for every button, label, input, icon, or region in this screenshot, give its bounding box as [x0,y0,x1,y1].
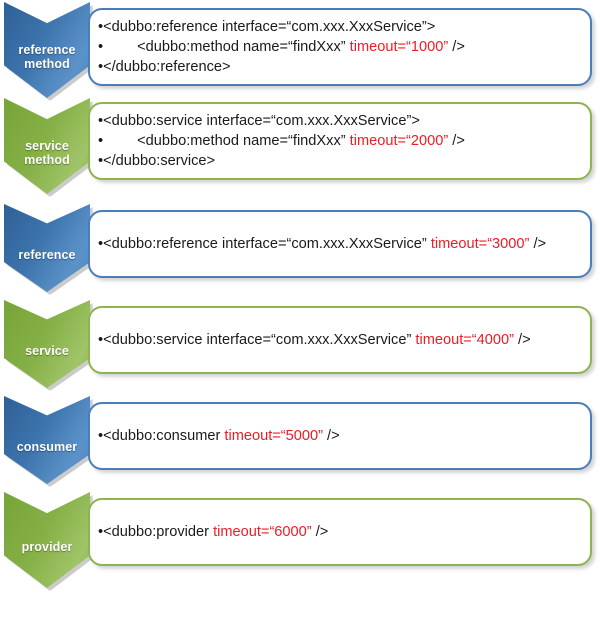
timeout-attribute-highlight: timeout=“1000” [350,39,449,55]
scope-chevron-reference[interactable]: reference [4,204,90,292]
code-box-consumer[interactable]: •<dubbo:consumer timeout=“5000” /> [88,402,592,470]
code-box-wrap-provider: •<dubbo:provider timeout=“6000” /> [88,498,592,566]
code-box-wrap-service-method: •<dubbo:service interface=“com.xxx.XxxSe… [88,102,592,180]
chevron-label-line1: consumer [17,440,78,455]
bullet-icon: • [98,39,103,55]
code-box-service[interactable]: •<dubbo:service interface=“com.xxx.XxxSe… [88,306,592,374]
code-line: •</dubbo:service> [98,151,580,171]
code-text-tail: /> [448,39,465,55]
scope-chevron-service[interactable]: service [4,300,90,388]
code-line: •<dubbo:method name=“findXxx” timeout=“1… [98,37,580,57]
code-box-reference-method[interactable]: •<dubbo:reference interface=“com.xxx.Xxx… [88,8,592,86]
code-box-wrap-consumer: •<dubbo:consumer timeout=“5000” /> [88,402,592,470]
code-text: </dubbo:service> [103,153,215,169]
dubbo-timeout-precedence-diagram: referencemethod•<dubbo:reference interfa… [0,0,600,620]
code-line: •<dubbo:consumer timeout=“5000” /> [98,426,580,446]
code-text: <dubbo:service interface=“com.xxx.XxxSer… [103,332,415,348]
code-text-tail: /> [514,332,531,348]
code-line: •<dubbo:reference interface=“com.xxx.Xxx… [98,234,580,254]
timeout-attribute-highlight: timeout=“2000” [350,133,449,149]
chevron-shape: servicemethod [4,98,90,194]
chevron-label-service-method: servicemethod [24,125,70,168]
scope-chevron-provider[interactable]: provider [4,492,90,588]
chevron-shape: referencemethod [4,2,90,98]
code-line: •<dubbo:service interface=“com.xxx.XxxSe… [98,330,580,350]
code-text: </dubbo:reference> [103,59,230,75]
code-box-wrap-reference: •<dubbo:reference interface=“com.xxx.Xxx… [88,210,592,278]
code-text: <dubbo:method name=“findXxx” [137,39,350,55]
code-box-service-method[interactable]: •<dubbo:service interface=“com.xxx.XxxSe… [88,102,592,180]
scope-chevron-service-method[interactable]: servicemethod [4,98,90,194]
code-box-reference[interactable]: •<dubbo:reference interface=“com.xxx.Xxx… [88,210,592,278]
code-line: •</dubbo:reference> [98,57,580,77]
timeout-attribute-highlight: timeout=“3000” [431,236,530,252]
chevron-label-line2: method [18,57,75,72]
code-line: •<dubbo:reference interface=“com.xxx.Xxx… [98,17,580,37]
chevron-label-reference-method: referencemethod [18,29,75,72]
scope-chevron-reference-method[interactable]: referencemethod [4,2,90,98]
chevron-label-line1: reference [18,43,75,58]
code-text: <dubbo:method name=“findXxx” [137,133,350,149]
code-text-tail: /> [323,428,340,444]
chevron-label-line2: method [24,153,70,168]
code-text: <dubbo:service interface=“com.xxx.XxxSer… [103,113,420,129]
code-text: <dubbo:reference interface=“com.xxx.XxxS… [103,19,435,35]
timeout-attribute-highlight: timeout=“6000” [213,524,312,540]
timeout-attribute-highlight: timeout=“5000” [224,428,323,444]
chevron-shape: service [4,300,90,388]
code-text-tail: /> [448,133,465,149]
chevron-label-line1: provider [22,540,73,555]
code-line: •<dubbo:method name=“findXxx” timeout=“2… [98,131,580,151]
chevron-label-line1: service [25,344,69,359]
chevron-label-service: service [25,330,69,359]
code-box-provider[interactable]: •<dubbo:provider timeout=“6000” /> [88,498,592,566]
code-text-tail: /> [312,524,329,540]
code-box-wrap-service: •<dubbo:service interface=“com.xxx.XxxSe… [88,306,592,374]
bullet-icon: • [98,133,103,149]
code-text: <dubbo:reference interface=“com.xxx.XxxS… [103,236,431,252]
chevron-label-provider: provider [22,526,73,555]
chevron-label-reference: reference [18,234,75,263]
code-line: •<dubbo:provider timeout=“6000” /> [98,522,580,542]
chevron-shape: provider [4,492,90,588]
chevron-shape: reference [4,204,90,292]
chevron-shape: consumer [4,396,90,484]
chevron-label-line1: service [24,139,70,154]
chevron-label-consumer: consumer [17,426,78,455]
code-box-wrap-reference-method: •<dubbo:reference interface=“com.xxx.Xxx… [88,8,592,86]
chevron-label-line1: reference [18,248,75,263]
code-text: <dubbo:provider [103,524,213,540]
code-text: <dubbo:consumer [103,428,224,444]
timeout-attribute-highlight: timeout=“4000” [415,332,514,348]
scope-chevron-consumer[interactable]: consumer [4,396,90,484]
code-line: •<dubbo:service interface=“com.xxx.XxxSe… [98,111,580,131]
code-text-tail: /> [529,236,546,252]
